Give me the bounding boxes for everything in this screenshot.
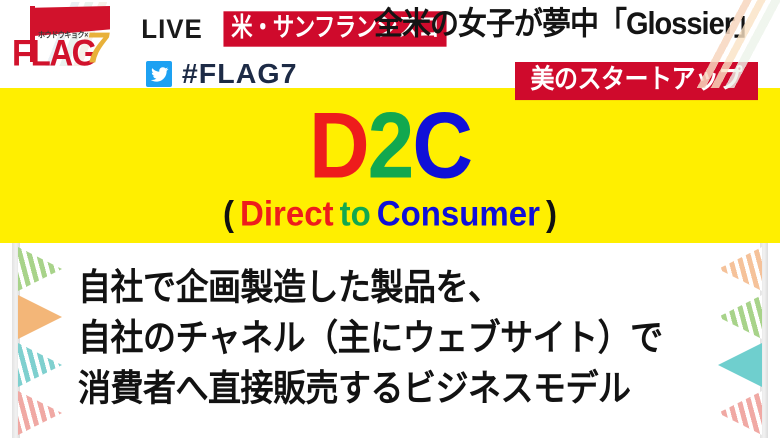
description-line-3: 消費者へ直接販売するビジネスモデル <box>78 364 718 412</box>
subtitle-word-consumer: Consumer <box>377 194 540 233</box>
header-bar: ホウドウキョク× FLAG 7 LIVE 米・サンフランシスコ #FLAG7 全… <box>0 0 780 88</box>
logo-wordmark: FLAG <box>12 32 96 75</box>
flag7-logo: ホウドウキョク× FLAG 7 <box>8 2 120 66</box>
d2c-letter-2: 2 <box>368 92 413 197</box>
logo-number: 7 <box>86 24 106 74</box>
subtitle-close-paren: ) <box>546 194 557 233</box>
twitter-bird-icon[interactable] <box>146 61 172 87</box>
d2c-letter-c: C <box>412 92 471 197</box>
description-line-2: 自社のチャネル（主にウェブサイト）で <box>78 313 718 361</box>
broadcast-graphic: ホウドウキョク× FLAG 7 LIVE 米・サンフランシスコ #FLAG7 全… <box>0 0 780 438</box>
d2c-title: D2C <box>0 98 780 192</box>
subtitle-open-paren: ( <box>223 194 234 233</box>
d2c-subtitle: (DirecttoConsumer) <box>0 196 780 231</box>
description-text: 自社で企画製造した製品を、 自社のチャネル（主にウェブサイト）で 消費者へ直接販… <box>78 263 718 414</box>
category-badge: 美のスタートアップ <box>515 62 759 100</box>
subtitle-word-direct: Direct <box>240 194 334 233</box>
headline: 全米の女子が夢中「Glossier」 <box>374 8 762 42</box>
subtitle-word-to: to <box>340 194 371 233</box>
hashtag-row: #FLAG7 <box>146 58 296 90</box>
hashtag-label: #FLAG7 <box>182 60 298 88</box>
title-band: D2C (DirecttoConsumer) <box>0 88 780 243</box>
description-panel: 自社で企画製造した製品を、 自社のチャネル（主にウェブサイト）で 消費者へ直接販… <box>0 243 780 438</box>
live-label: LIVE <box>141 16 202 43</box>
description-line-1: 自社で企画製造した製品を、 <box>78 263 718 311</box>
d2c-letter-d: D <box>309 92 368 197</box>
